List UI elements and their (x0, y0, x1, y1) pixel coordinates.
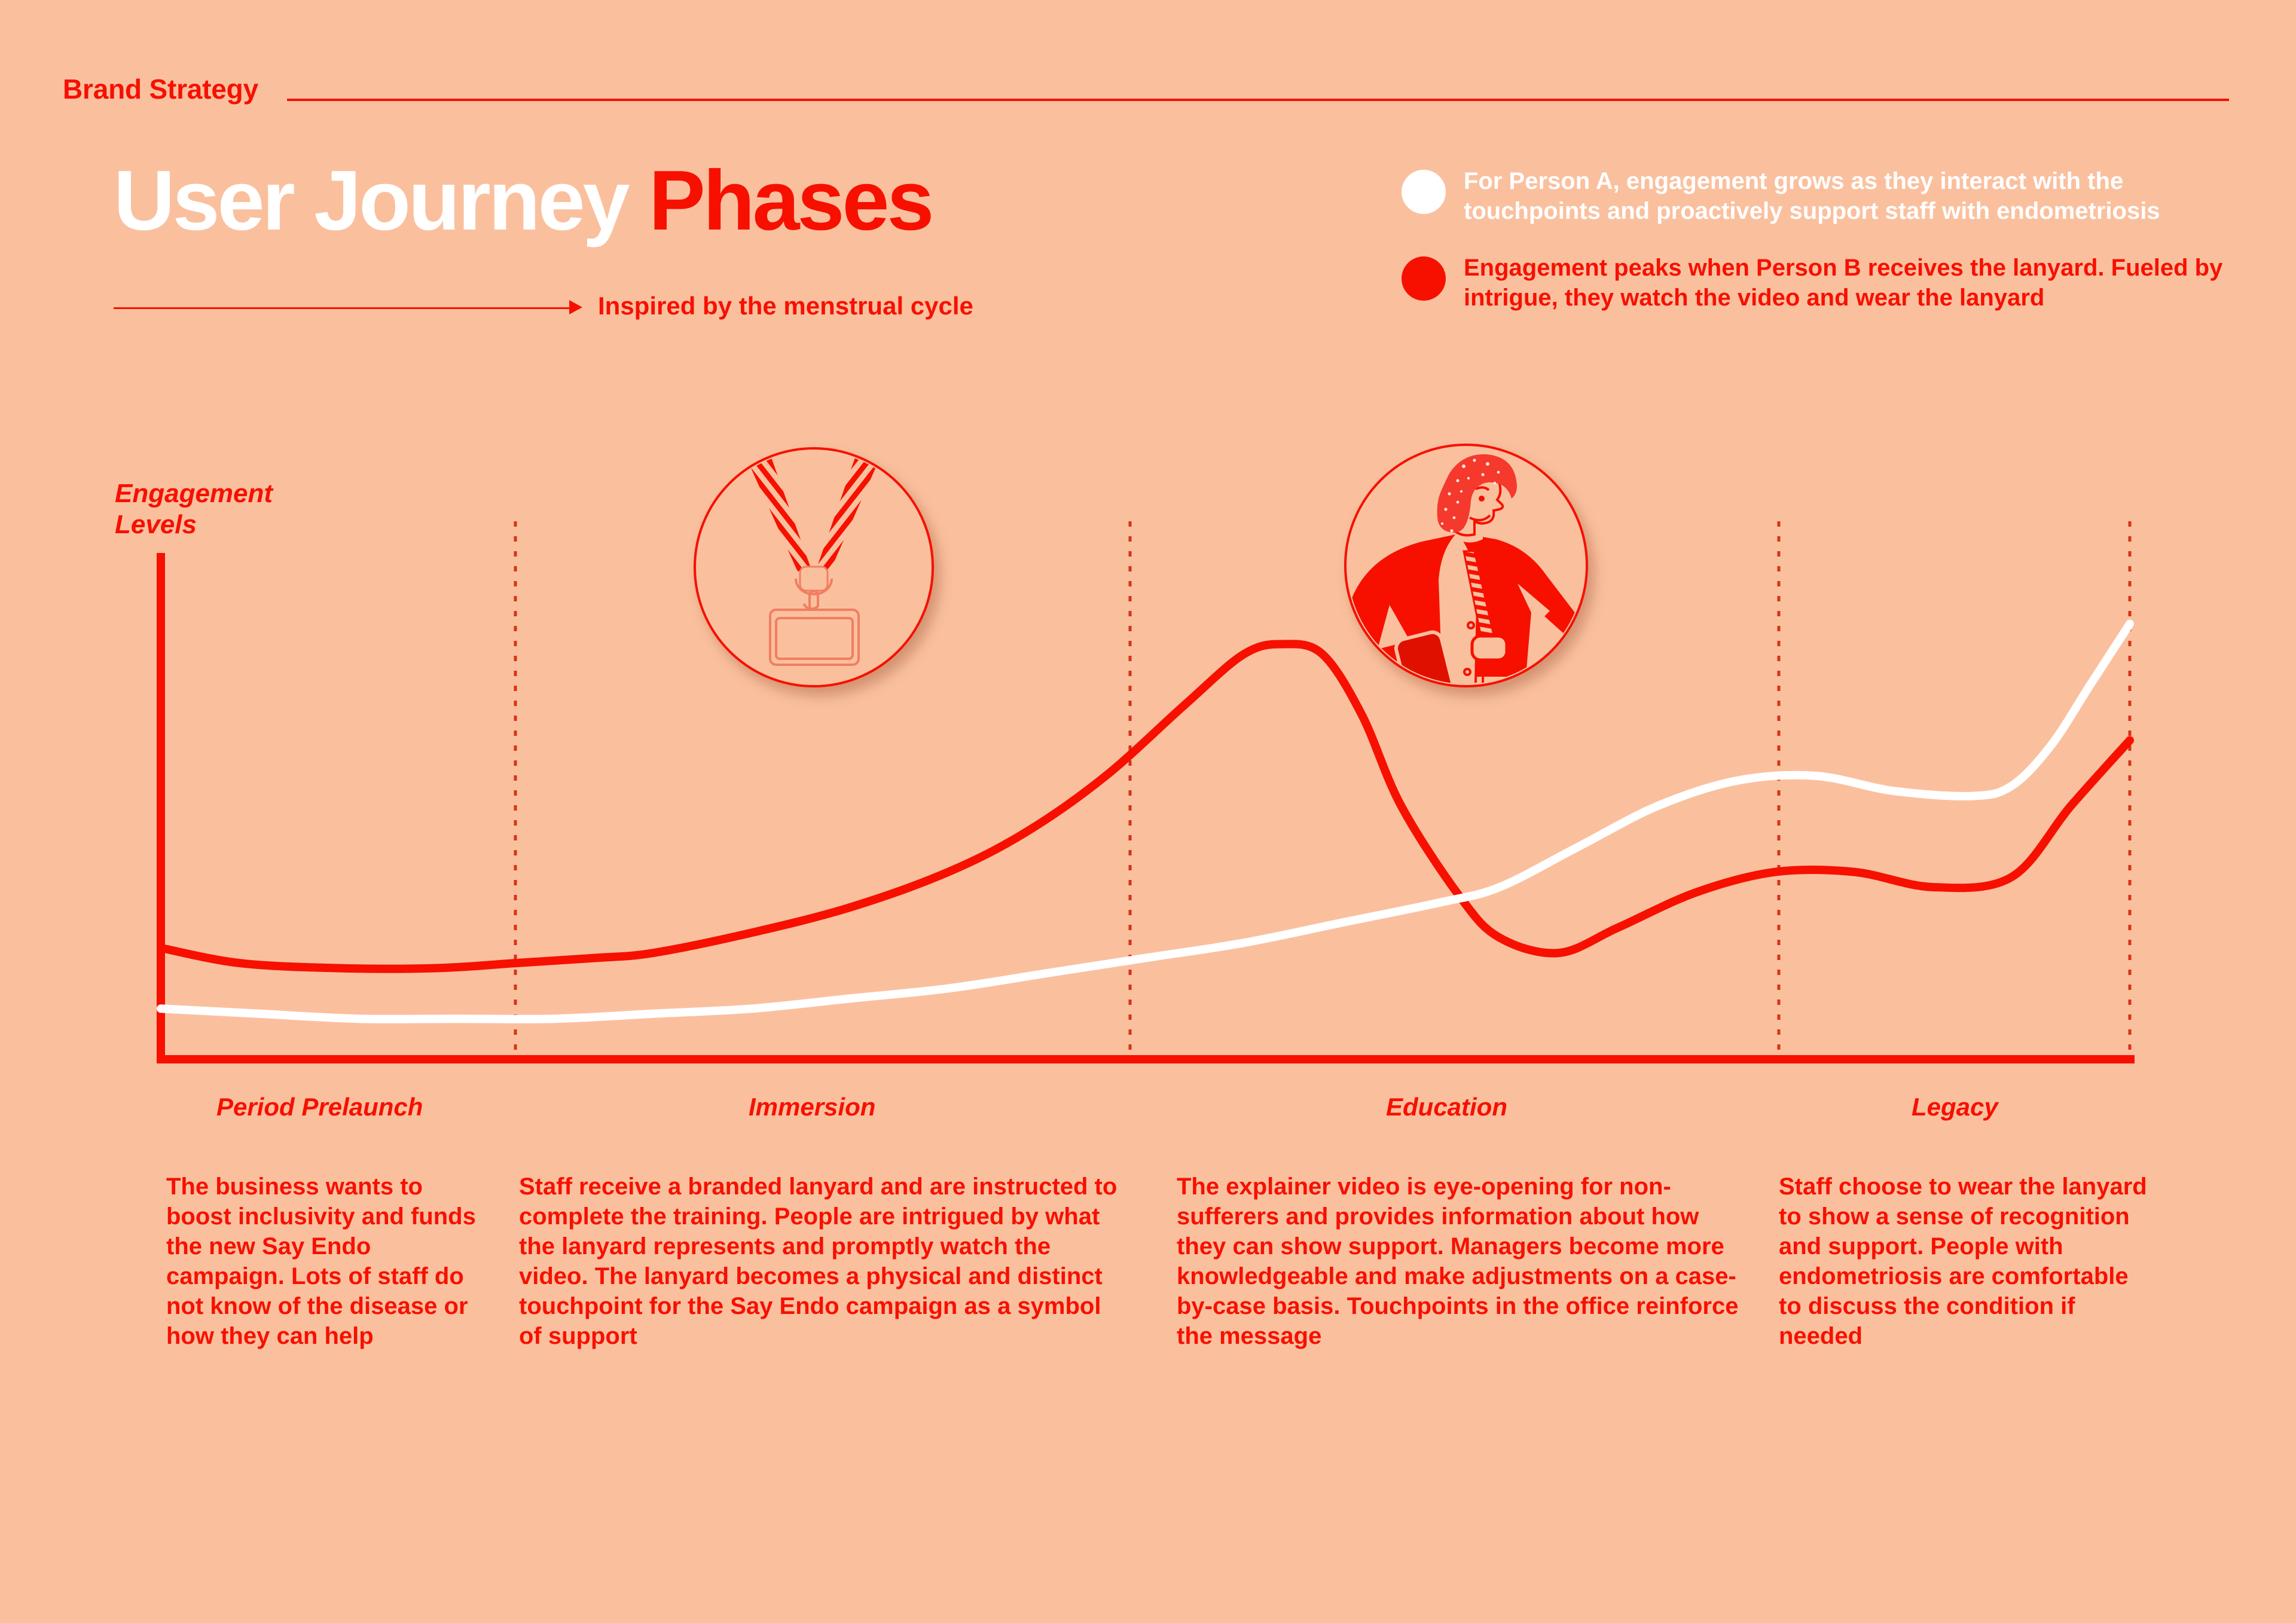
lanyard-illustration (694, 447, 934, 687)
phase-label-legacy: Legacy (1912, 1093, 1998, 1121)
phase-body-legacy: Staff choose to wear the lanyard to show… (1779, 1172, 2150, 1351)
lanyard-strap-right (817, 454, 879, 571)
phase-body-period-prelaunch: The business wants to boost inclusivity … (166, 1172, 483, 1351)
top-bar: Brand Strategy (0, 36, 2296, 72)
page-title: User Journey Phases (114, 158, 932, 243)
arrow-line (114, 307, 574, 309)
legend-item-label: Engagement peaks when Person B receives … (1464, 253, 2242, 313)
phase-body-education: The explainer video is eye-opening for n… (1177, 1172, 1751, 1351)
page-title-part-one: User Journey (114, 153, 649, 248)
phase-label-immersion: Immersion (749, 1093, 875, 1121)
series-line-person-b (161, 644, 2130, 968)
person-lanyard-badge (1472, 636, 1507, 660)
lanyard-strap-left (747, 454, 811, 571)
phase-label-period-prelaunch: Period Prelaunch (216, 1093, 423, 1121)
arrow-right-icon (569, 300, 582, 314)
phase-label-education: Education (1386, 1093, 1507, 1121)
page-title-part-two: Phases (649, 153, 932, 248)
series-line-person-a (161, 624, 2130, 1019)
person-eye (1479, 496, 1485, 502)
legend-item-person-b: Engagement peaks when Person B receives … (1393, 253, 2242, 313)
eyebrow-label: Brand Strategy (63, 73, 258, 105)
lanyard-connector (800, 567, 828, 591)
person-illustration (1344, 444, 1588, 687)
legend-item-label: For Person A, engagement grows as they i… (1464, 166, 2242, 227)
y-axis-label: Engagement Levels (115, 478, 273, 540)
page-subtitle: Inspired by the menstrual cycle (598, 292, 973, 320)
header-rule (287, 99, 2229, 101)
white-dot-icon (1402, 170, 1446, 214)
red-dot-icon (1402, 256, 1446, 301)
legend: For Person A, engagement grows as they i… (1393, 166, 2242, 340)
phase-body-immersion: Staff receive a branded lanyard and are … (519, 1172, 1126, 1351)
subtitle-row: Inspired by the menstrual cycle (114, 292, 1130, 328)
legend-item-person-a: For Person A, engagement grows as they i… (1393, 166, 2242, 227)
